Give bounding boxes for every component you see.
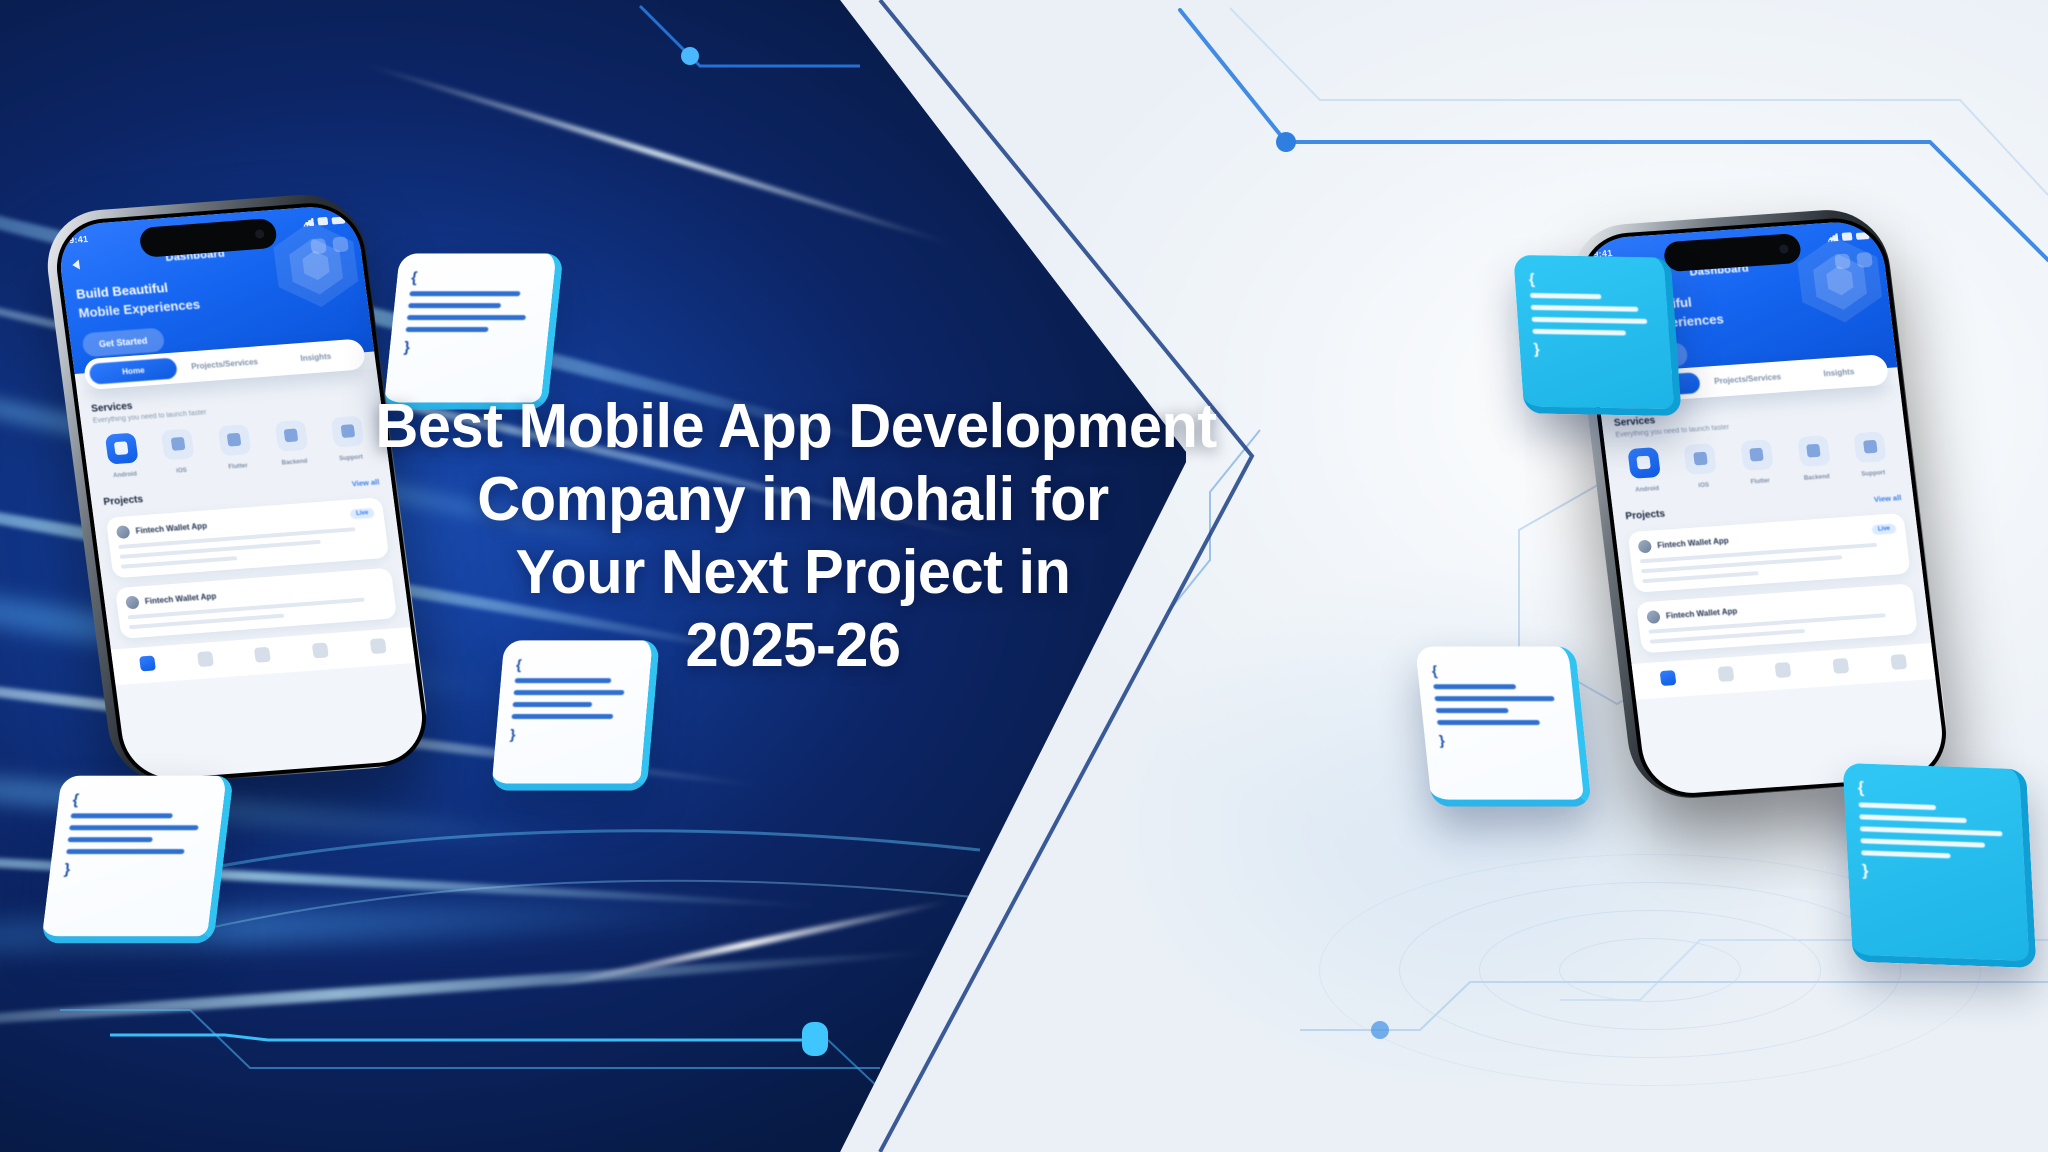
avatar [1646,610,1661,624]
code-card-top-right: { } [1513,255,1682,416]
avatar [125,595,140,609]
projects-title: Projects [103,494,144,508]
quick-actions-right: Android iOS Flutter Backend [1617,430,1899,497]
project-card[interactable]: Fintech Wallet App Live [106,497,390,578]
search-icon[interactable] [197,651,214,667]
avatar [116,525,131,539]
view-all-link[interactable]: View all [1873,493,1901,504]
project-card[interactable]: Fintech Wallet App [115,567,397,638]
code-card-mid-right: { } [1415,646,1592,806]
quick-action-support[interactable]: Support [1843,430,1898,481]
app-body-right: Services Everything you need to launch f… [1600,384,1931,664]
code-brace-close: } [1862,862,1869,879]
quick-action-flutter[interactable]: Flutter [208,423,264,474]
status-time: 9:41 [68,234,88,245]
code-card-bottom-right: { } [1842,763,2036,968]
quick-action-android[interactable]: Android [95,432,151,483]
profile-icon[interactable] [1890,654,1907,670]
project-card-title: Fintech Wallet App [144,591,216,605]
avatar [1638,539,1653,553]
tab-projects[interactable]: Projects/Services [180,350,270,377]
code-card-top-left: { } [383,253,563,409]
code-brace-close: } [509,726,516,742]
quick-action-backend[interactable]: Backend [264,419,320,470]
services-title: Services [91,400,134,414]
placeholder-line [1642,571,1758,583]
project-card-title: Fintech Wallet App [135,521,207,535]
tab-home[interactable]: Home [88,357,178,384]
project-card-title: Fintech Wallet App [1657,536,1729,550]
quick-action-backend[interactable]: Backend [1787,434,1842,485]
home-icon[interactable] [1660,670,1677,686]
quick-action-ios[interactable]: iOS [1674,442,1729,493]
code-brace-close: } [63,861,71,878]
placeholder-line [121,556,237,569]
apple-icon [1693,452,1708,466]
server-icon [1806,444,1821,458]
page-title: Best Mobile App Development Company in M… [358,390,1228,683]
quick-actions-left: Android iOS Flutter Backend [95,415,377,483]
tab-insights[interactable]: Insights [271,343,361,370]
chat-icon[interactable] [312,642,329,658]
android-icon [114,441,129,455]
get-started-button[interactable]: Get Started [81,327,165,357]
project-card-title: Fintech Wallet App [1665,606,1737,620]
chat-icon[interactable] [1832,658,1849,674]
project-card[interactable]: Fintech Wallet App Live [1627,513,1910,593]
code-card-bottom-left: { } [41,776,234,944]
back-chevron-icon[interactable] [72,259,80,269]
project-card[interactable]: Fintech Wallet App [1636,583,1918,653]
code-brace-close: } [403,339,411,356]
headline-line-1: Best Mobile App Development [375,390,1210,463]
android-icon [1637,456,1652,470]
code-brace-open: { [72,792,80,809]
home-icon[interactable] [139,655,156,671]
headline-line-2: Company in Mohali for [375,463,1210,536]
quick-action-ios[interactable]: iOS [151,427,207,478]
code-brace-open: { [1431,662,1438,678]
headline-line-3: Your Next Project in [375,536,1210,609]
code-brace-open: { [1857,779,1864,796]
code-brace-close: } [1438,732,1445,748]
status-badge: Live [1871,524,1896,536]
search-icon[interactable] [1717,666,1734,682]
briefcase-icon[interactable] [254,646,271,662]
services-title: Services [1613,415,1655,429]
support-icon [1863,440,1878,454]
support-icon [340,424,355,438]
tab-projects[interactable]: Projects/Services [1703,365,1793,392]
briefcase-icon[interactable] [1775,662,1792,678]
flutter-icon [227,433,242,447]
apple-icon [171,437,186,451]
flutter-icon [1750,448,1765,462]
banner-stage: 9:41 Dashboard [0,0,2048,1152]
server-icon [284,429,299,443]
tab-insights[interactable]: Insights [1794,359,1884,386]
quick-action-flutter[interactable]: Flutter [1730,438,1785,489]
headline-line-4: 2025-26 [375,609,1210,682]
code-brace-open: { [410,269,418,286]
quick-action-android[interactable]: Android [1617,446,1672,497]
projects-title: Projects [1625,508,1666,522]
code-brace-close: } [1533,341,1540,358]
code-brace-open: { [1528,271,1535,288]
